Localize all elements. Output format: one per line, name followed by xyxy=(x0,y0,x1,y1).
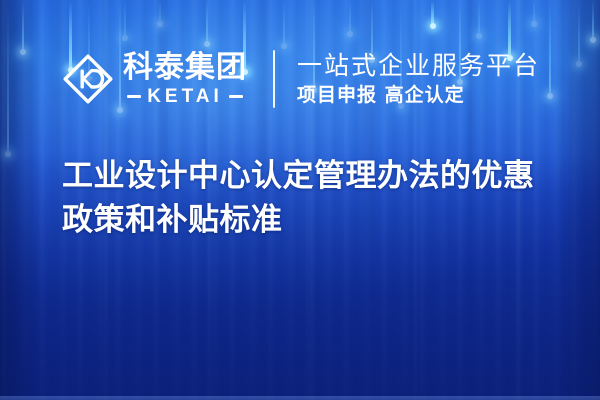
light-streak xyxy=(124,0,126,38)
slogan-block: 一站式企业服务平台 项目申报 高企认定 xyxy=(297,52,540,106)
light-streak xyxy=(533,0,535,24)
brand-name-en: KETAI xyxy=(147,87,223,106)
vertical-divider xyxy=(273,50,275,108)
light-streak xyxy=(159,0,161,24)
slogan-main: 一站式企业服务平台 xyxy=(297,52,540,80)
ketai-logo-icon xyxy=(62,53,114,105)
promo-banner: 科泰集团 KETAI 一站式企业服务平台 项目申报 高企认定 工业设计中心认定管… xyxy=(0,0,600,400)
brand-lockup: 科泰集团 KETAI xyxy=(62,52,247,106)
slogan-sub: 项目申报 高企认定 xyxy=(297,85,540,106)
dash-left-icon xyxy=(127,95,141,98)
banner-header: 科泰集团 KETAI 一站式企业服务平台 项目申报 高企认定 xyxy=(0,40,600,118)
brand-name-cn: 科泰集团 xyxy=(123,52,247,84)
light-streak xyxy=(431,0,434,26)
light-streak xyxy=(592,0,594,40)
brand-text: 科泰集团 KETAI xyxy=(123,52,247,106)
light-streak xyxy=(478,0,480,36)
light-streak xyxy=(349,0,351,34)
page-title: 工业设计中心认定管理办法的优惠政策和补贴标准 xyxy=(62,154,562,242)
light-streak xyxy=(206,0,208,44)
dash-right-icon xyxy=(229,95,243,98)
bottom-accent-line xyxy=(0,396,600,400)
brand-name-en-row: KETAI xyxy=(127,87,243,106)
